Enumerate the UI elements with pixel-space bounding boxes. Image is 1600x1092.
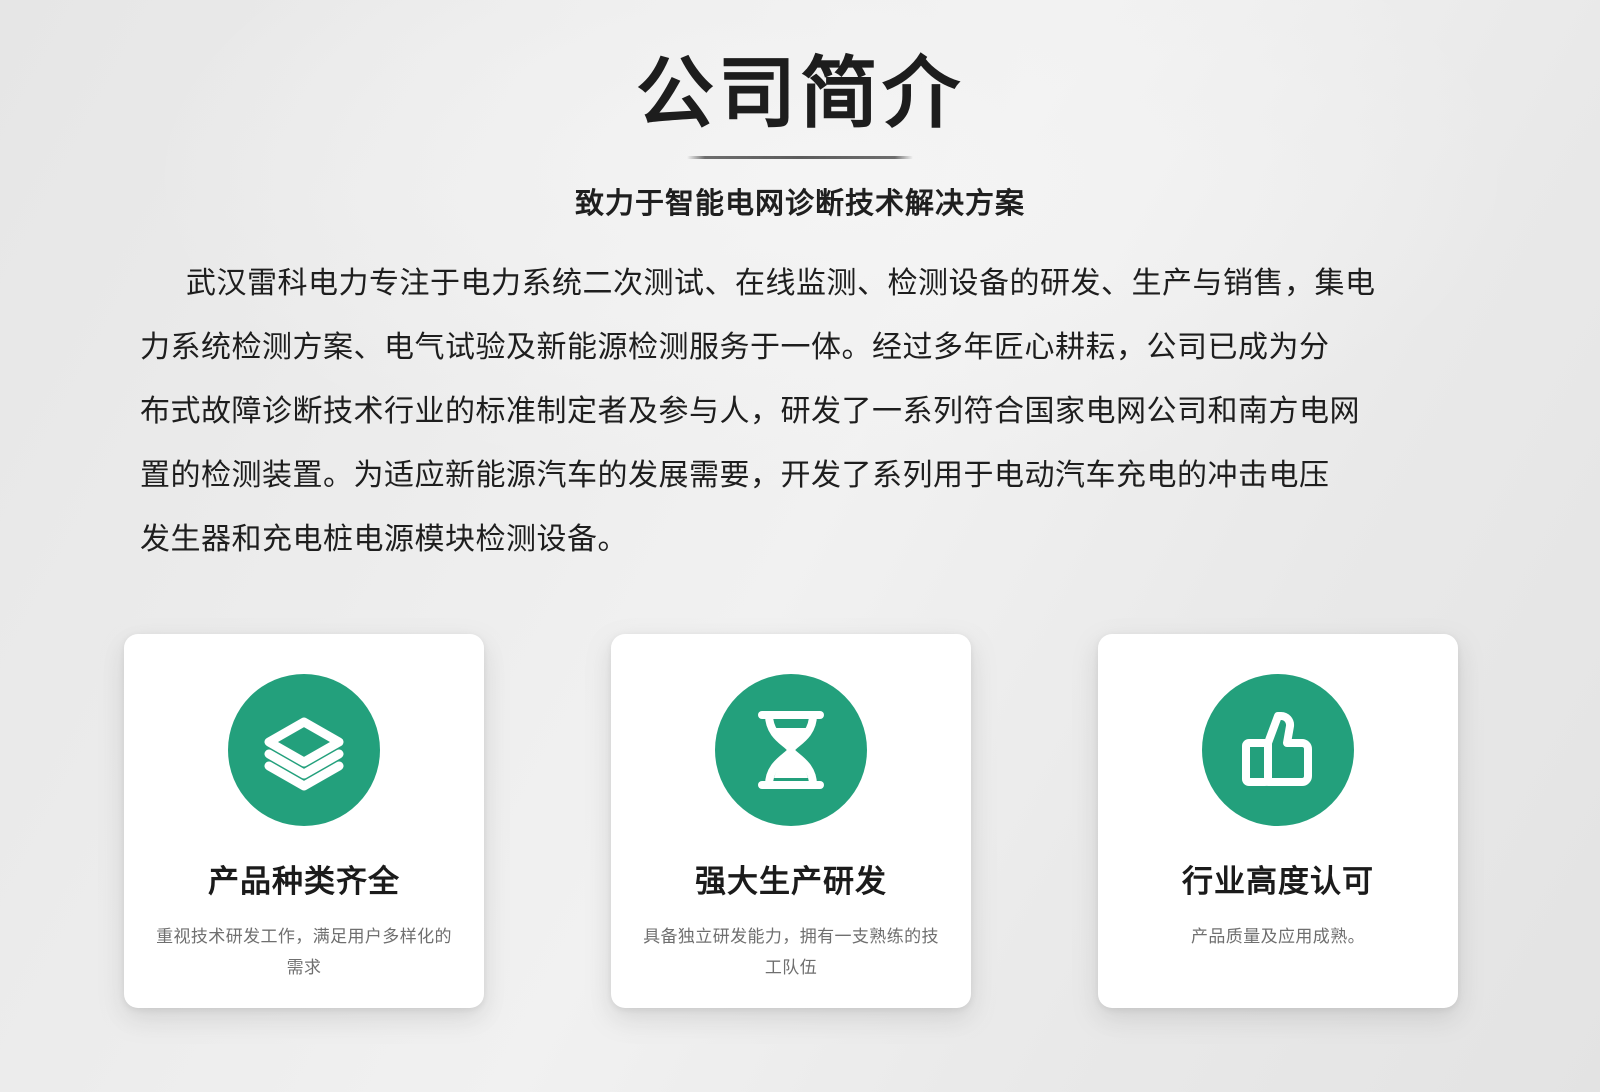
feature-card-list: 产品种类齐全 重视技术研发工作，满足用户多样化的需求 — [124, 634, 1458, 1008]
feature-card-description: 重视技术研发工作，满足用户多样化的需求 — [154, 902, 454, 984]
feature-card-title: 产品种类齐全 — [208, 826, 400, 902]
feature-card-product-range[interactable]: 产品种类齐全 重视技术研发工作，满足用户多样化的需求 — [124, 634, 484, 1008]
feature-card-rnd[interactable]: 强大生产研发 具备独立研发能力，拥有一支熟练的技工队伍 — [611, 634, 971, 1008]
feature-card-title: 行业高度认可 — [1182, 826, 1374, 902]
feature-card-title: 强大生产研发 — [695, 826, 887, 902]
page-header: 公司简介 致力于智能电网诊断技术解决方案 — [0, 0, 1600, 223]
icon-badge — [1202, 674, 1354, 826]
page-title: 公司简介 — [0, 0, 1600, 142]
intro-line: 布式故障诊断技术行业的标准制定者及参与人，研发了一系列符合国家电网公司和南方电网 — [140, 380, 1460, 444]
hourglass-icon — [747, 706, 835, 794]
icon-badge — [715, 674, 867, 826]
intro-line: 力系统检测方案、电气试验及新能源检测服务于一体。经过多年匠心耕耘，公司已成为分 — [140, 316, 1460, 380]
thumbs-up-icon — [1234, 706, 1322, 794]
layers-icon — [260, 706, 348, 794]
feature-card-recognition[interactable]: 行业高度认可 产品质量及应用成熟。 — [1098, 634, 1458, 1008]
feature-card-description: 具备独立研发能力，拥有一支熟练的技工队伍 — [641, 902, 941, 984]
company-intro-paragraph: 武汉雷科电力专注于电力系统二次测试、在线监测、检测设备的研发、生产与销售，集电 … — [140, 252, 1460, 572]
page-subtitle: 致力于智能电网诊断技术解决方案 — [0, 159, 1600, 223]
feature-card-description: 产品质量及应用成熟。 — [1128, 902, 1428, 953]
intro-line: 发生器和充电桩电源模块检测设备。 — [140, 508, 1460, 572]
intro-line: 武汉雷科电力专注于电力系统二次测试、在线监测、检测设备的研发、生产与销售，集电 — [140, 252, 1460, 316]
icon-badge — [228, 674, 380, 826]
company-profile-page: 公司简介 致力于智能电网诊断技术解决方案 武汉雷科电力专注于电力系统二次测试、在… — [0, 0, 1600, 1092]
intro-line: 置的检测装置。为适应新能源汽车的发展需要，开发了系列用于电动汽车充电的冲击电压 — [140, 444, 1460, 508]
